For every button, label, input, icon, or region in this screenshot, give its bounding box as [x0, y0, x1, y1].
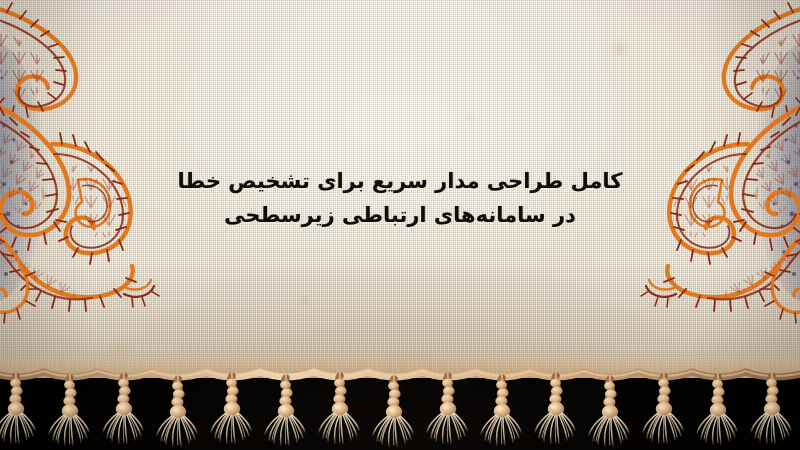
cloth-selvedge-fuzz [0, 362, 800, 378]
title-card-canvas: کامل طراحی مدار سریع برای تشخیص خطا در س… [0, 0, 800, 450]
ornament-main-scroll [0, 0, 159, 323]
title-line-1: کامل طراحی مدار سریع برای تشخیص خطا [0, 164, 800, 198]
textile-cloth-panel: کامل طراحی مدار سریع برای تشخیص خطا در س… [0, 0, 800, 378]
title-block: کامل طراحی مدار سریع برای تشخیص خطا در س… [0, 164, 800, 232]
title-line-2: در سامانه‌های ارتباطی زیرسطحی [0, 198, 800, 232]
